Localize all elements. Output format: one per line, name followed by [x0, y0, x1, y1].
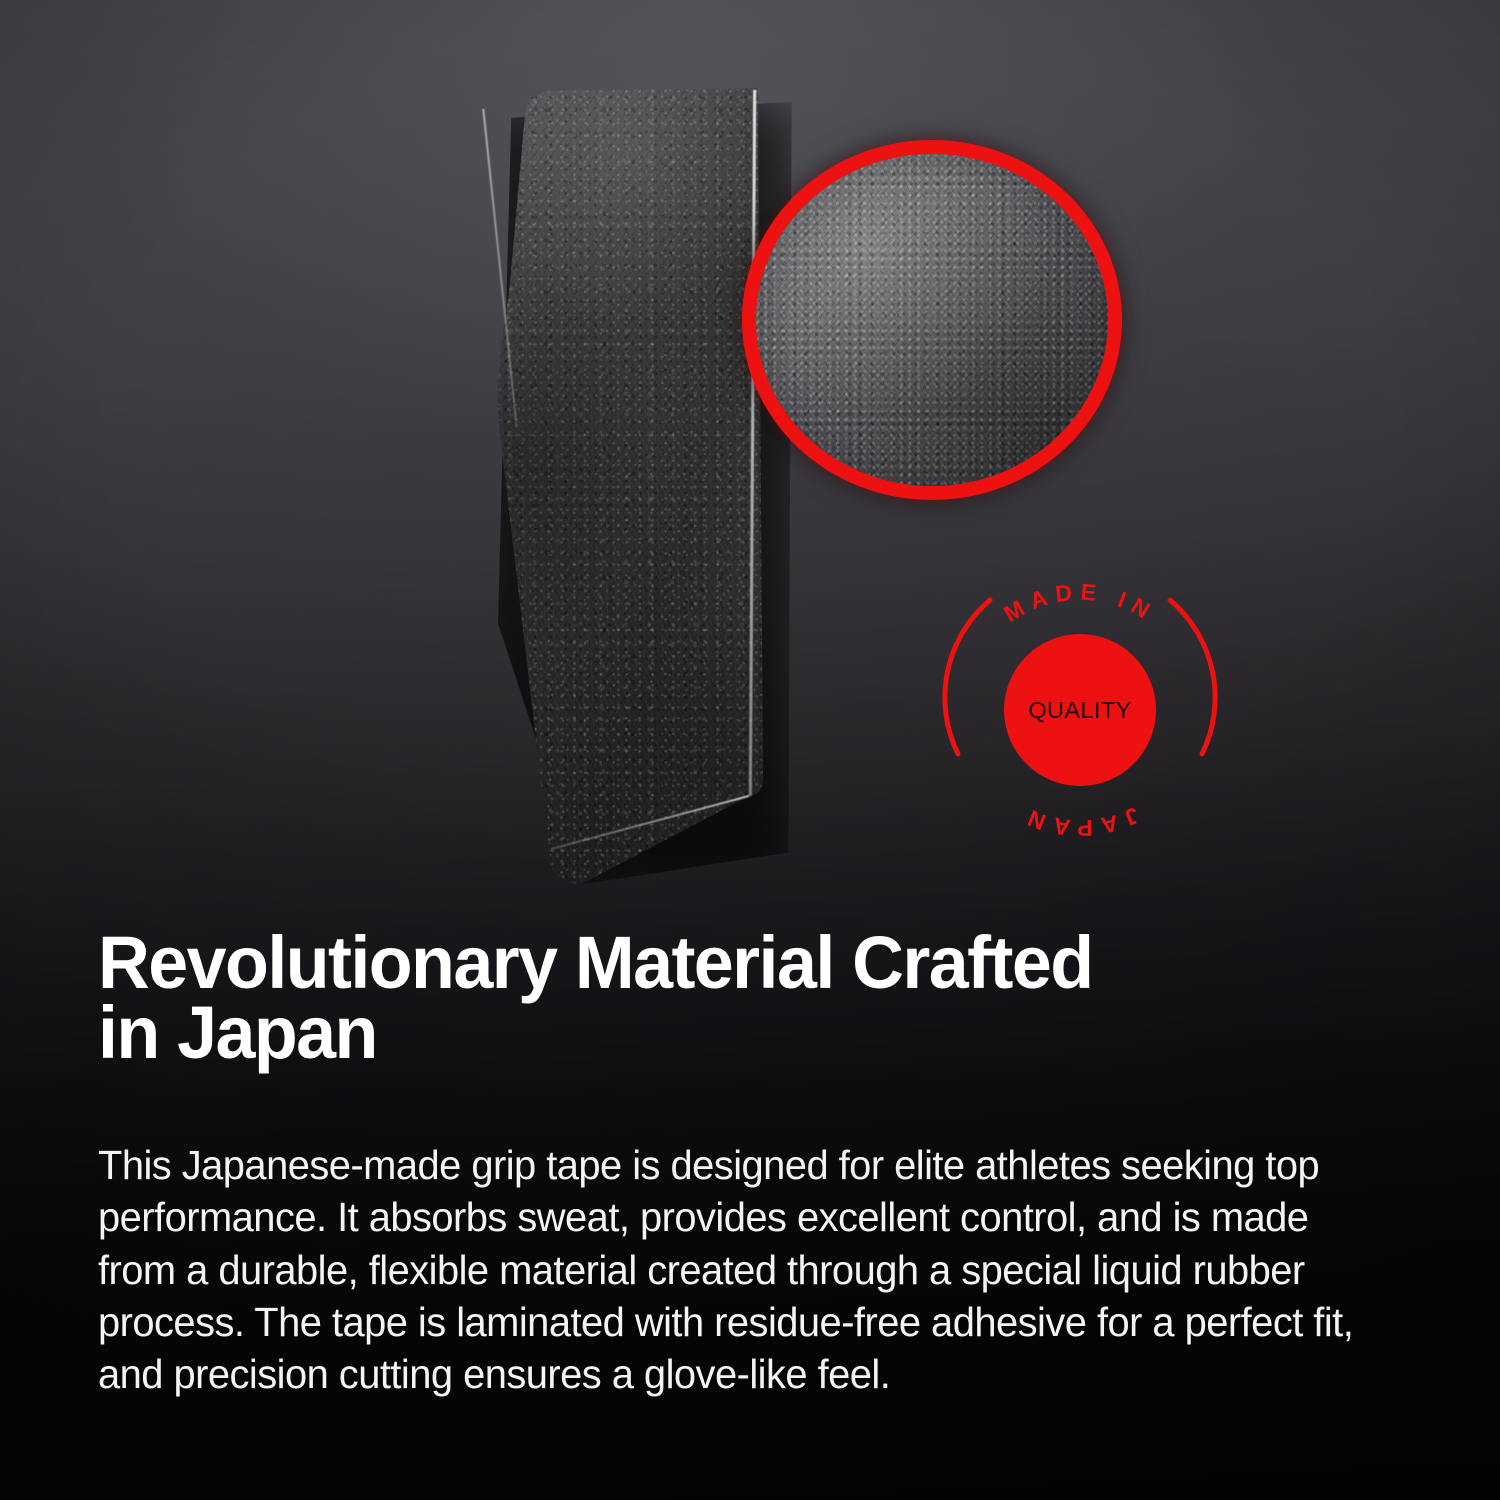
page-title: Revolutionary Material Crafted in Japan [98, 928, 1359, 1067]
magnified-texture-shading [754, 152, 1110, 488]
badge-top-arc-label: MADE IN [999, 578, 1161, 627]
grip-tape-strip-image [455, 88, 800, 898]
copy-block: Revolutionary Material Crafted in Japan … [98, 928, 1398, 1400]
badge-arc-left [945, 600, 990, 754]
badge-arc-right [1170, 600, 1215, 754]
product-feature-banner: MADE IN JAPAN QUALITY Revolutionary Mate… [0, 0, 1500, 1500]
made-in-japan-quality-badge: MADE IN JAPAN QUALITY [930, 558, 1230, 858]
magnifier-circle [742, 140, 1122, 500]
badge-quality-label: QUALITY [1028, 697, 1131, 723]
body-paragraph: This Japanese-made grip tape is designed… [98, 1067, 1369, 1400]
badge-bottom-arc-label: JAPAN [1017, 802, 1143, 841]
badge-svg: MADE IN JAPAN QUALITY [930, 558, 1230, 858]
